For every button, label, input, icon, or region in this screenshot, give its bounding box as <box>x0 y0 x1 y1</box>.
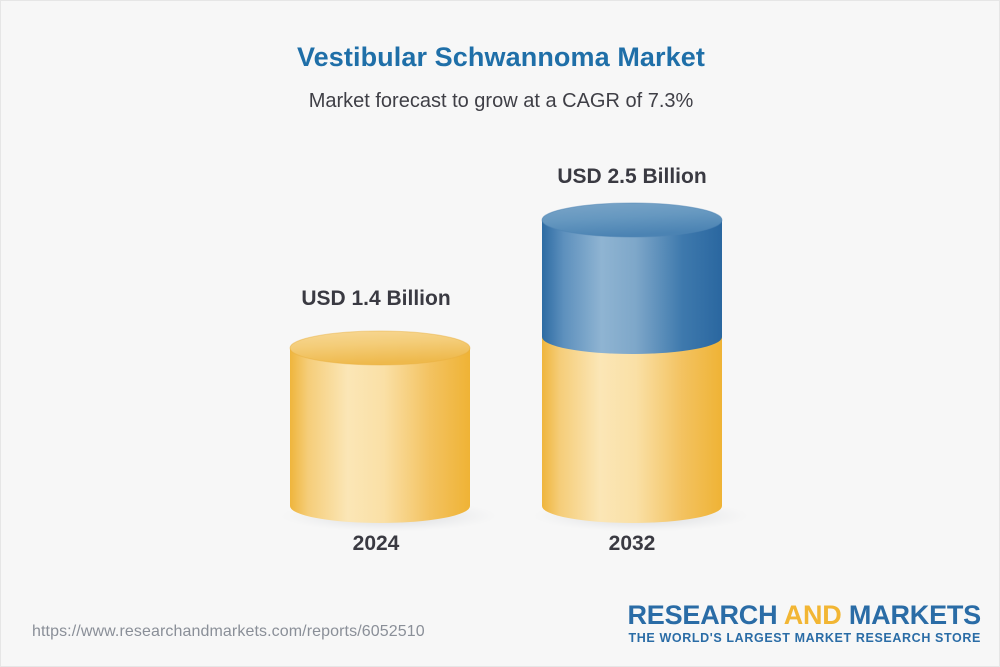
bar-2032-value-label: USD 2.5 Billion <box>533 165 731 189</box>
bar-2024-category-label: 2024 <box>281 532 471 556</box>
logo-wordmark: RESEARCH AND MARKETS <box>627 601 981 629</box>
logo-tagline: THE WORLD'S LARGEST MARKET RESEARCH STOR… <box>627 631 981 645</box>
bar-2032[interactable] <box>533 203 749 532</box>
bar-2032-category-label: 2032 <box>533 532 731 556</box>
logo-word-markets: MARKETS <box>842 600 981 630</box>
research-and-markets-logo[interactable]: RESEARCH AND MARKETS THE WORLD'S LARGEST… <box>627 601 981 645</box>
logo-word-and: AND <box>784 600 842 630</box>
infographic-canvas: Vestibular Schwannoma Market Market fore… <box>0 0 1000 667</box>
bar-2024[interactable] <box>281 331 497 532</box>
report-url[interactable]: https://www.researchandmarkets.com/repor… <box>32 623 425 641</box>
bar-chart <box>1 1 1000 601</box>
bar-2032-body-blue <box>542 220 722 354</box>
bar-2024-body <box>290 348 470 523</box>
logo-word-research: RESEARCH <box>627 600 783 630</box>
bar-2024-value-label: USD 1.4 Billion <box>281 287 471 311</box>
bar-2032-body-yellow <box>542 337 722 523</box>
